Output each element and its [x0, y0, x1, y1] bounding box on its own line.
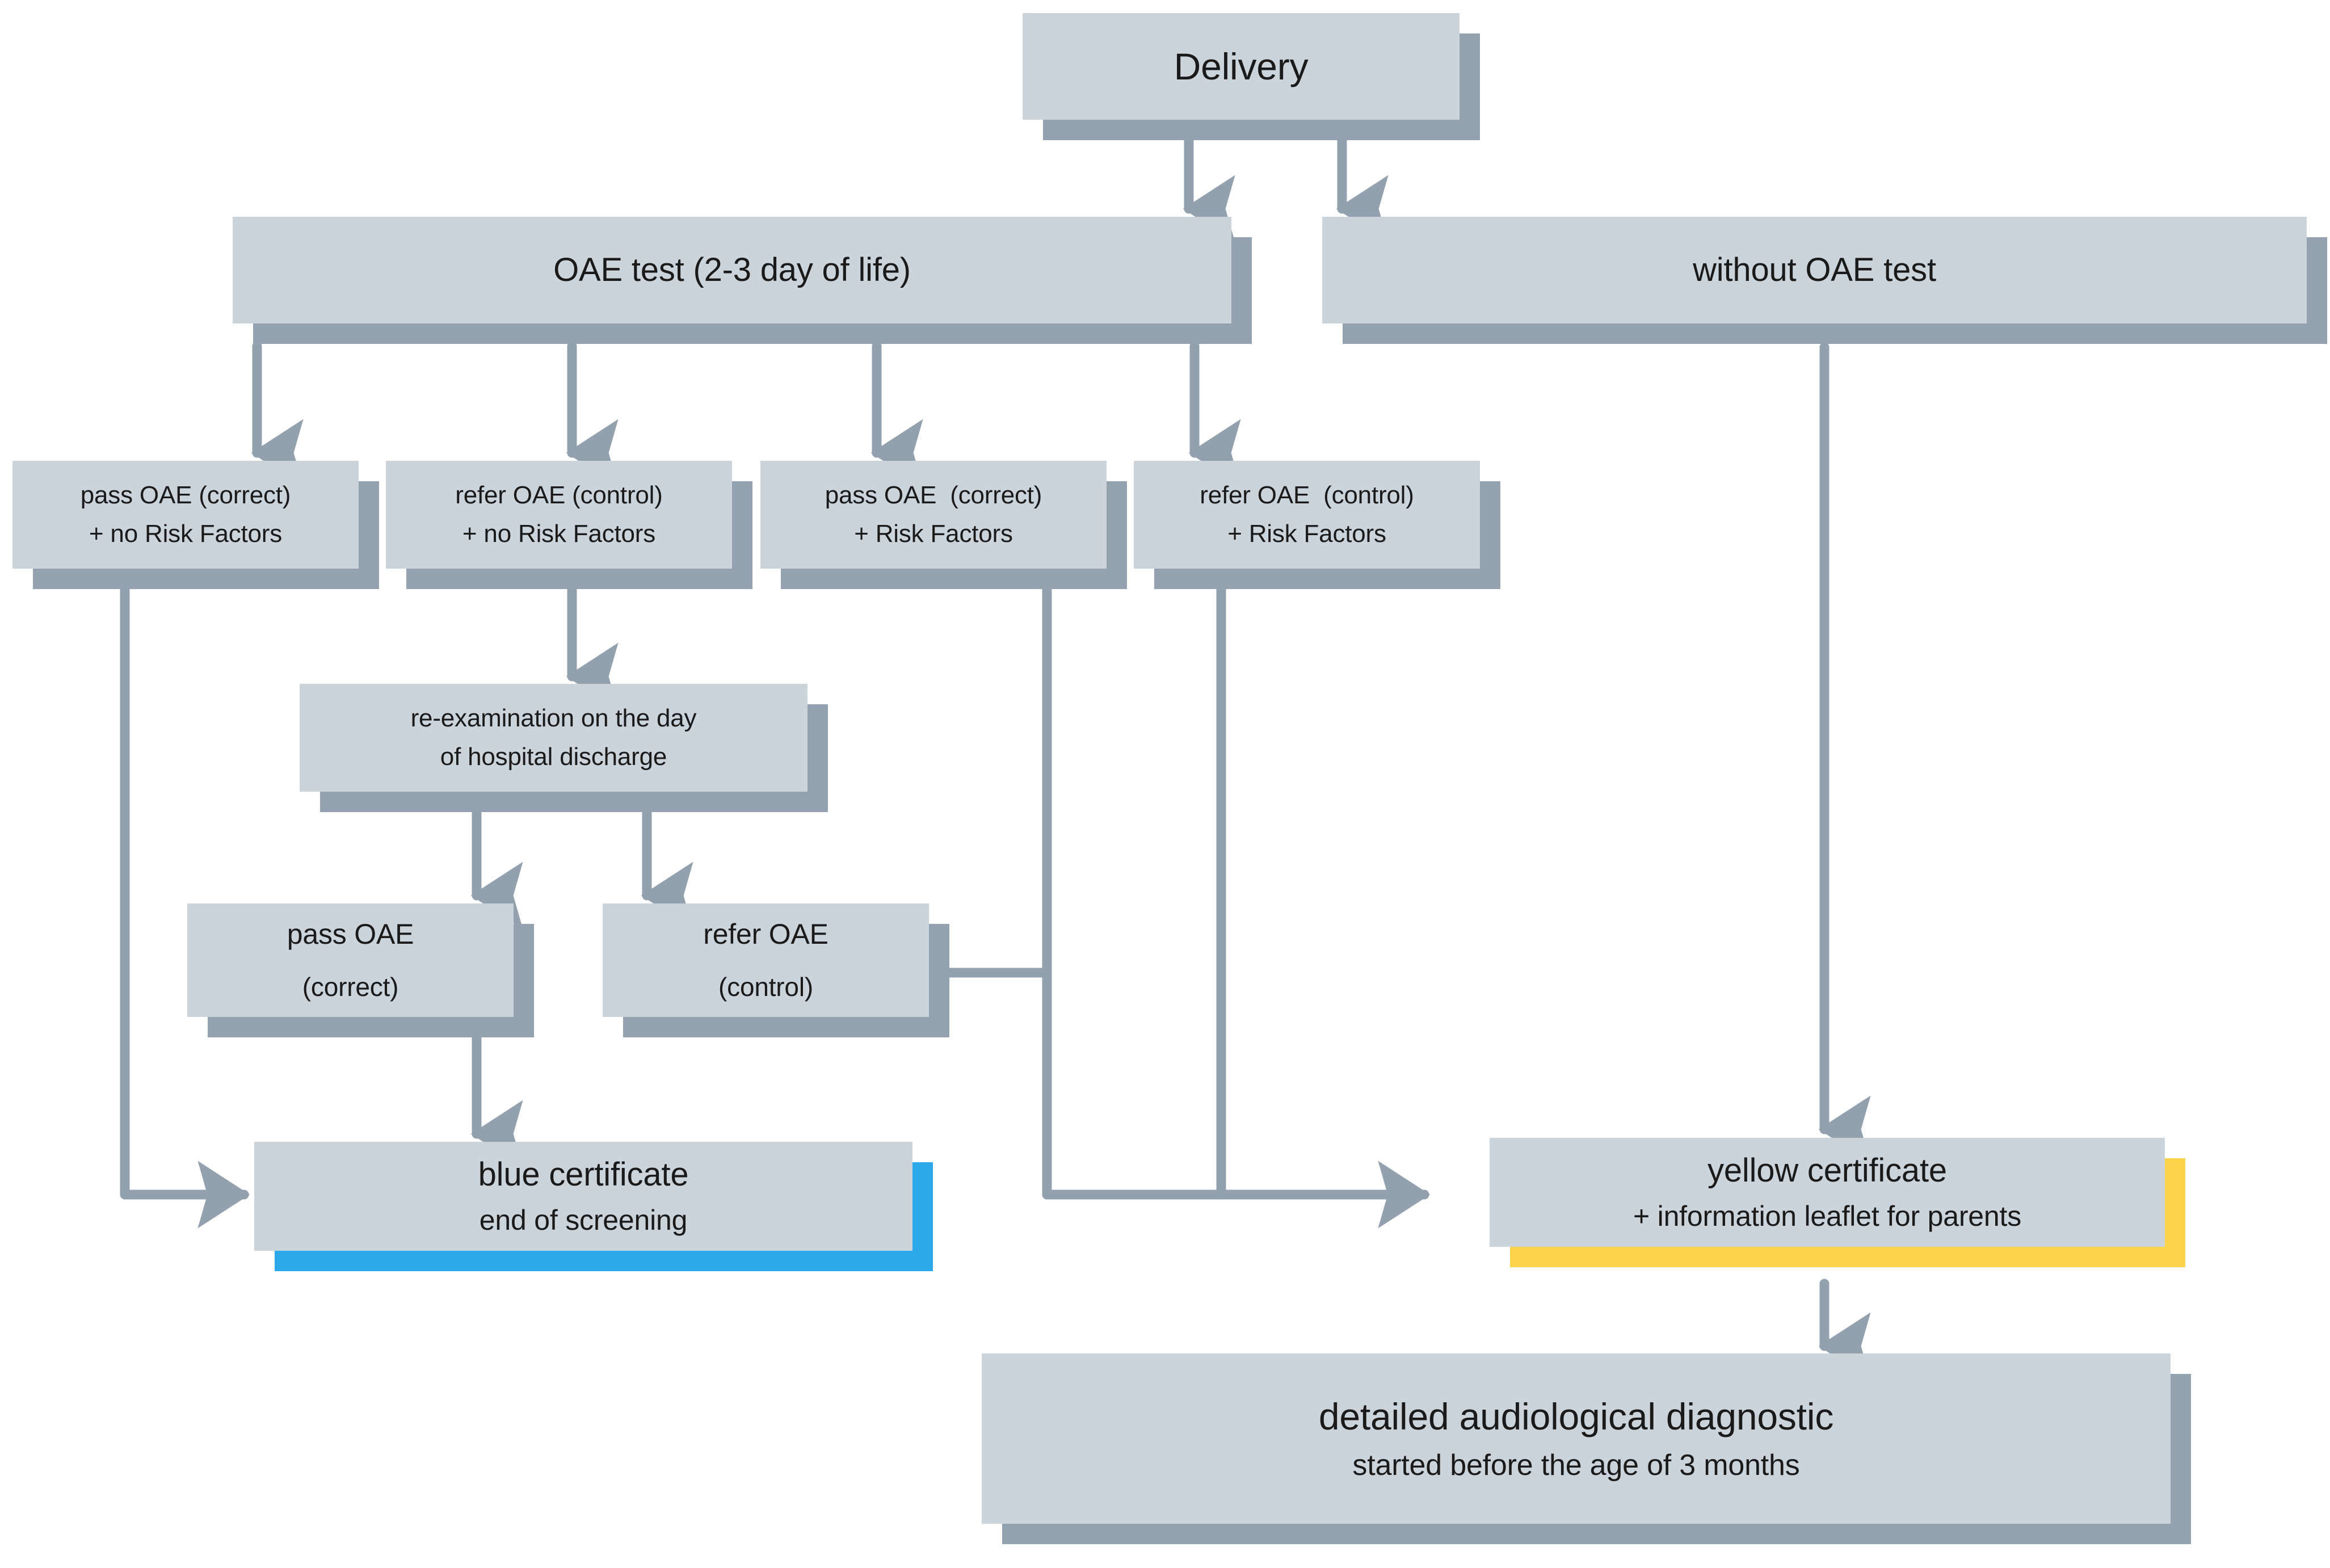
node-face: pass OAE (correct)+ Risk Factors	[760, 461, 1107, 569]
connector-pass-norisk-to-blue-cert	[125, 590, 244, 1195]
node-face: re-examination on the dayof hospital dis…	[300, 684, 807, 792]
node-label-primary: refer OAE (control)	[386, 480, 732, 511]
node-label-primary: refer OAE (control)	[1134, 480, 1480, 511]
node-pass-oae-no-risk-factors[interactable]: pass OAE (correct)+ no Risk Factors	[12, 461, 359, 569]
node-label-primary: pass OAE (correct)	[12, 480, 359, 511]
node-face: pass OAE (correct)+ no Risk Factors	[12, 461, 359, 569]
node-label-primary: OAE test (2-3 day of life)	[233, 250, 1231, 291]
flowchart-canvas: DeliveryOAE test (2-3 day of life)withou…	[0, 0, 2330, 1568]
node-detailed-audiological-diagnostic[interactable]: detailed audiological diagnosticstarted …	[982, 1353, 2171, 1524]
node-face: Delivery	[1023, 13, 1460, 120]
node-refer-oae-no-risk-factors[interactable]: refer OAE (control)+ no Risk Factors	[386, 461, 732, 569]
node-yellow-certificate[interactable]: yellow certificate+ information leaflet …	[1490, 1138, 2165, 1247]
node-refer-oae-risk-factors[interactable]: refer OAE (control)+ Risk Factors	[1134, 461, 1480, 569]
node-label-primary: pass OAE	[187, 917, 514, 952]
node-face: pass OAE(correct)	[187, 903, 514, 1017]
node-label-primary: pass OAE (correct)	[760, 480, 1107, 511]
node-face: OAE test (2-3 day of life)	[233, 217, 1231, 323]
node-label-secondary: (correct)	[187, 971, 514, 1003]
node-label-secondary: + Risk Factors	[760, 519, 1107, 549]
node-label-primary: blue certificate	[254, 1155, 912, 1195]
node-label-secondary: started before the age of 3 months	[982, 1448, 2171, 1483]
node-oae-test[interactable]: OAE test (2-3 day of life)	[233, 217, 1231, 323]
node-delivery[interactable]: Delivery	[1023, 13, 1460, 120]
node-face: refer OAE (control)+ Risk Factors	[1134, 461, 1480, 569]
node-face: refer OAE(control)	[603, 903, 929, 1017]
node-label-secondary: + information leaflet for parents	[1490, 1199, 2165, 1234]
node-label-secondary: (control)	[603, 971, 929, 1003]
node-blue-certificate[interactable]: blue certificateend of screening	[254, 1142, 912, 1251]
node-pass-oae-risk-factors[interactable]: pass OAE (correct)+ Risk Factors	[760, 461, 1107, 569]
node-label-primary: refer OAE	[603, 917, 929, 952]
node-face: yellow certificate+ information leaflet …	[1490, 1138, 2165, 1247]
node-without-oae-test[interactable]: without OAE test	[1322, 217, 2307, 323]
node-label-primary: detailed audiological diagnostic	[982, 1394, 2171, 1440]
node-label-primary: re-examination on the day	[300, 703, 807, 734]
node-label-primary: Delivery	[1023, 44, 1460, 90]
node-face: blue certificateend of screening	[254, 1142, 912, 1251]
node-label-secondary: + no Risk Factors	[386, 519, 732, 549]
node-label-secondary: of hospital discharge	[300, 742, 807, 772]
node-refer-oae-control[interactable]: refer OAE(control)	[603, 903, 929, 1017]
node-label-primary: yellow certificate	[1490, 1151, 2165, 1191]
node-pass-oae-correct[interactable]: pass OAE(correct)	[187, 903, 514, 1017]
node-label-secondary: + Risk Factors	[1134, 519, 1480, 549]
node-label-secondary: + no Risk Factors	[12, 519, 359, 549]
node-label-primary: without OAE test	[1322, 250, 2307, 291]
node-face: refer OAE (control)+ no Risk Factors	[386, 461, 732, 569]
node-re-examination-discharge[interactable]: re-examination on the dayof hospital dis…	[300, 684, 807, 792]
node-label-secondary: end of screening	[254, 1203, 912, 1238]
node-face: without OAE test	[1322, 217, 2307, 323]
node-face: detailed audiological diagnosticstarted …	[982, 1353, 2171, 1524]
